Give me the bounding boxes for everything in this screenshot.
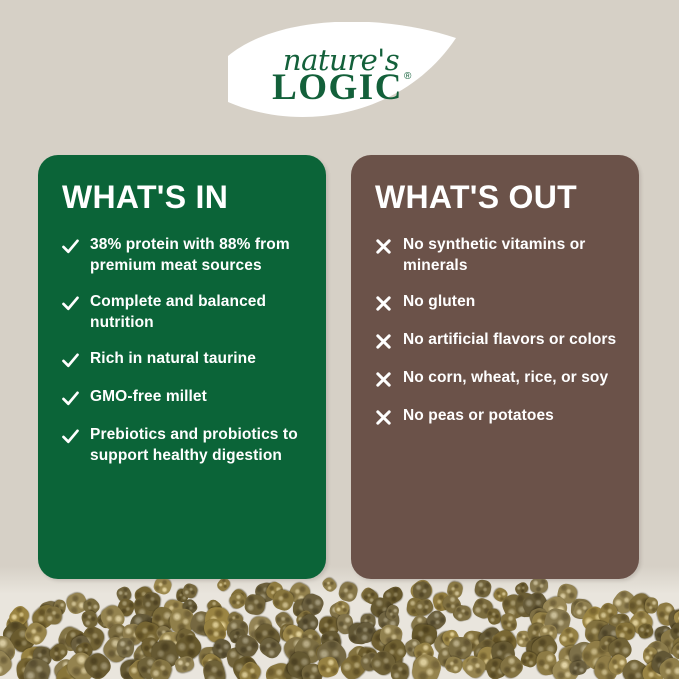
list-item-label: No peas or potatoes — [403, 406, 554, 427]
list-item-label: No gluten — [403, 292, 475, 313]
brand-wordmark: nature's LOGIC ® — [228, 22, 456, 126]
registered-mark-icon: ® — [404, 72, 413, 82]
card-whats-out-title: WHAT'S OUT — [375, 181, 617, 213]
list-item-label: No artificial flavors or colors — [403, 330, 616, 351]
kibble-piece — [117, 638, 135, 657]
list-item: No peas or potatoes — [373, 406, 617, 428]
card-whats-out: WHAT'S OUT No synthetic vitamins or mine… — [351, 155, 639, 579]
list-item: 38% protein with 88% from premium meat s… — [60, 235, 304, 276]
kibble-piece — [390, 661, 409, 679]
brand-main-text: LOGIC — [272, 67, 403, 108]
card-whats-out-list: No synthetic vitamins or minerals No glu… — [373, 235, 617, 428]
list-item-label: No corn, wheat, rice, or soy — [403, 368, 608, 389]
list-item: No gluten — [373, 292, 617, 314]
list-item: GMO-free millet — [60, 387, 304, 409]
kibble-piece — [45, 606, 62, 625]
cross-icon — [373, 331, 394, 352]
list-item: Rich in natural taurine — [60, 349, 304, 371]
check-icon — [60, 426, 81, 447]
cross-icon — [373, 236, 394, 257]
brand-main-word: LOGIC ® — [272, 69, 412, 106]
kibble-piece — [454, 604, 471, 621]
cross-icon — [373, 369, 394, 390]
card-whats-in-title: WHAT'S IN — [62, 181, 304, 213]
kibble-piece — [485, 607, 502, 626]
list-item-label: 38% protein with 88% from premium meat s… — [90, 235, 304, 276]
list-item-label: No synthetic vitamins or minerals — [403, 235, 617, 276]
list-item-label: Complete and balanced nutrition — [90, 292, 304, 333]
kibble-photo-strip — [0, 566, 679, 679]
cross-icon — [373, 293, 394, 314]
cross-icon — [373, 407, 394, 428]
card-whats-in: WHAT'S IN 38% protein with 88% from prem… — [38, 155, 326, 579]
card-whats-in-list: 38% protein with 88% from premium meat s… — [60, 235, 304, 466]
list-item-label: Rich in natural taurine — [90, 349, 256, 370]
check-icon — [60, 293, 81, 314]
list-item-label: Prebiotics and probiotics to support hea… — [90, 425, 304, 466]
check-icon — [60, 388, 81, 409]
list-item: Complete and balanced nutrition — [60, 292, 304, 333]
list-item: No synthetic vitamins or minerals — [373, 235, 617, 276]
list-item: Prebiotics and probiotics to support hea… — [60, 425, 304, 466]
list-item: No corn, wheat, rice, or soy — [373, 368, 617, 390]
brand-logo: nature's LOGIC ® — [228, 22, 456, 126]
kibble-piece — [568, 659, 587, 676]
kibble-piece — [243, 594, 265, 616]
list-item: No artificial flavors or colors — [373, 330, 617, 352]
list-item-label: GMO-free millet — [90, 387, 207, 408]
check-icon — [60, 236, 81, 257]
check-icon — [60, 350, 81, 371]
